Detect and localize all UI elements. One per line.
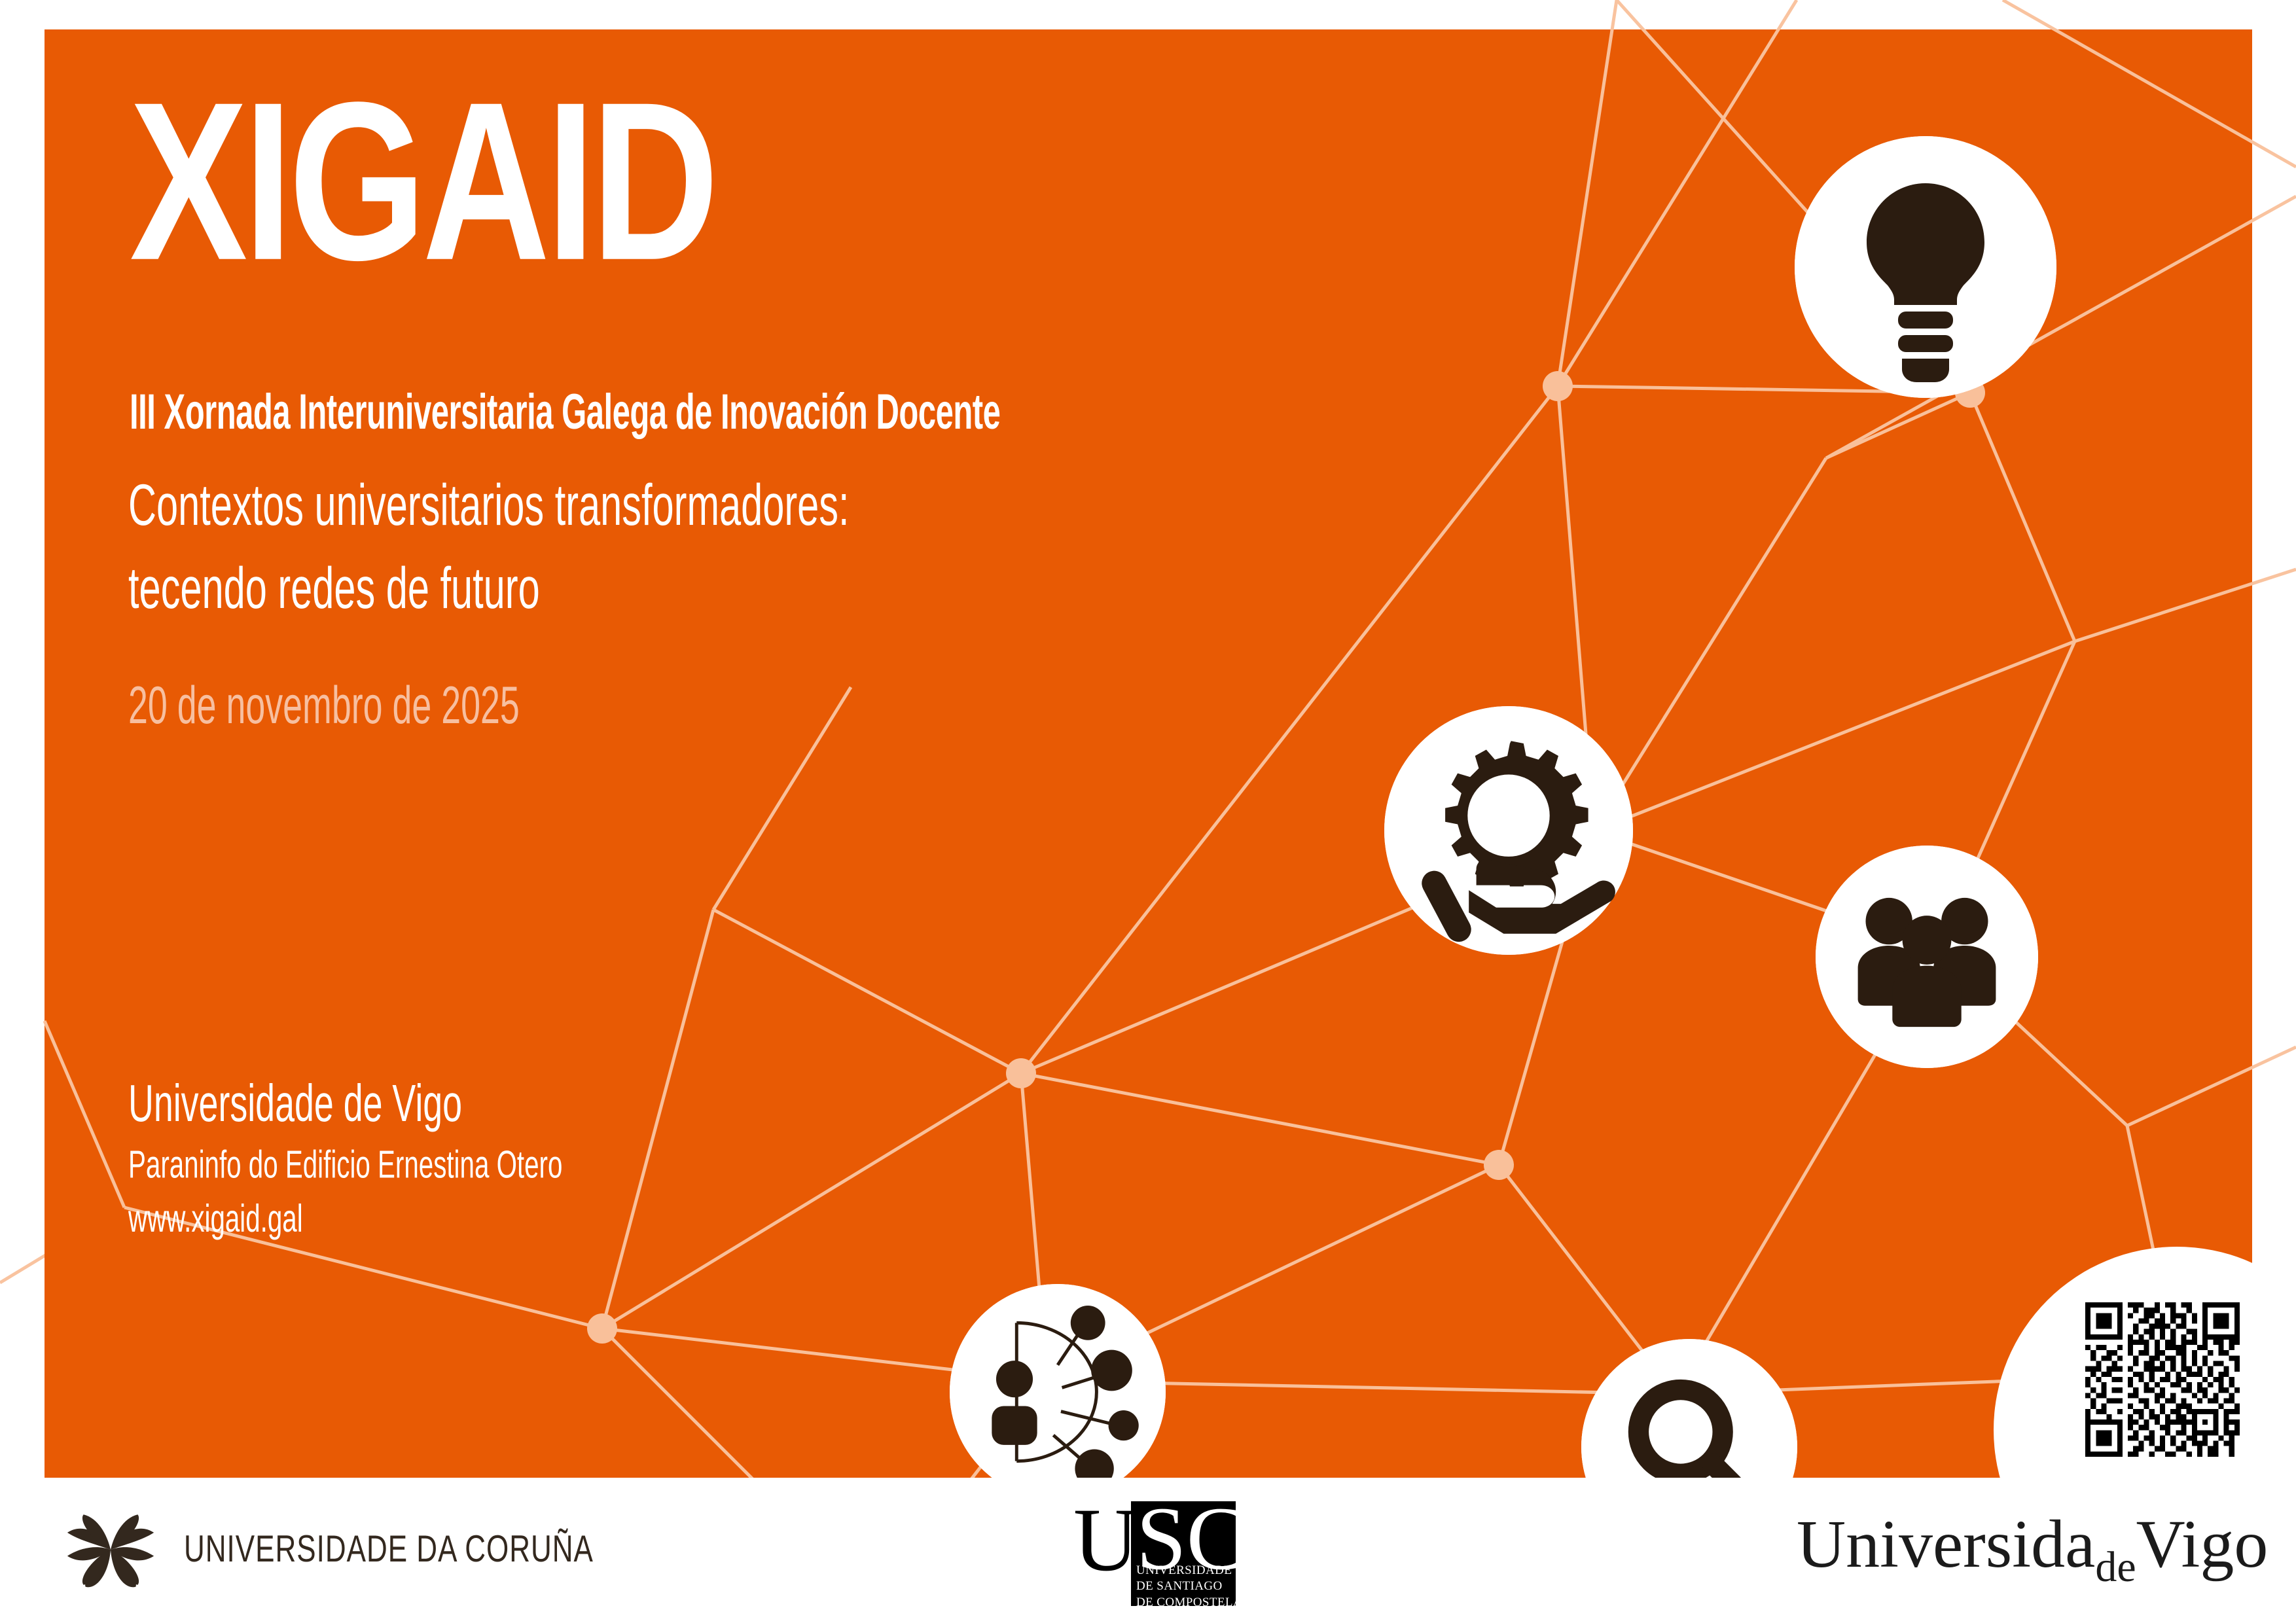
magnifier-icon <box>1581 1339 1797 1478</box>
network-person-icon <box>950 1284 1166 1478</box>
udc-logo-text: UNIVERSIDADE DA CORUÑA <box>184 1529 594 1571</box>
people-group-icon <box>1816 846 2038 1068</box>
headline-line-2: tecendo redes de futuro <box>128 548 850 631</box>
qr-code-icon[interactable] <box>2085 1302 2240 1457</box>
venue-institution: Universidade de Vigo <box>128 1070 562 1137</box>
event-date: 20 de novembro de 2025 <box>128 674 520 736</box>
event-subtitle: III Xornada Interuniversitaria Galega de… <box>130 383 1000 440</box>
venue-place: Paraninfo do Edificio Ernestina Otero <box>128 1137 562 1191</box>
orange-panel: XIGAID III Xornada Interuniversitaria Ga… <box>45 29 2252 1478</box>
poster-root: XIGAID III Xornada Interuniversitaria Ga… <box>0 0 2296 1623</box>
usc-letter-u: U <box>1073 1495 1139 1585</box>
udc-mark-icon <box>56 1509 166 1590</box>
wordmark-xigaid: XIGAID <box>130 75 1532 289</box>
headline: Contextos universitarios transformadores… <box>128 465 850 631</box>
usc-logo-subtext: UNIVERSIDADE DE SANTIAGO DE COMPOSTELA <box>1136 1563 1242 1611</box>
usc-subtext-line-3: DE COMPOSTELA <box>1136 1596 1242 1609</box>
universidade-de-santiago-de-compostela-logo[interactable]: U SC UNIVERSIDADE DE SANTIAGO DE COMPOST… <box>1073 1489 1283 1614</box>
lightbulb-icon <box>1795 136 2056 398</box>
vigo-logo-part-3: Vigo <box>2136 1507 2269 1582</box>
vigo-logo-part-1: Universida <box>1797 1507 2095 1582</box>
venue-website[interactable]: www.xigaid.gal <box>128 1192 562 1246</box>
headline-line-1: Contextos universitarios transformadores… <box>128 465 850 548</box>
universidade-de-vigo-logo[interactable]: UniversidadeVigo <box>1797 1505 2268 1583</box>
gear-in-hand-icon <box>1384 706 1633 955</box>
venue-block: Universidade de Vigo Paraninfo do Edific… <box>128 1070 562 1246</box>
universidade-da-coruna-logo[interactable]: UNIVERSIDADE DA CORUÑA <box>56 1509 594 1590</box>
title-block: XIGAID <box>130 75 1504 240</box>
footer-logos: UNIVERSIDADE DA CORUÑA U SC UNIVERSIDADE… <box>0 1478 2296 1623</box>
usc-subtext-line-2: DE SANTIAGO <box>1136 1579 1223 1593</box>
usc-subtext-line-1: UNIVERSIDADE <box>1136 1563 1232 1577</box>
vigo-logo-part-2: de <box>2095 1543 2136 1591</box>
